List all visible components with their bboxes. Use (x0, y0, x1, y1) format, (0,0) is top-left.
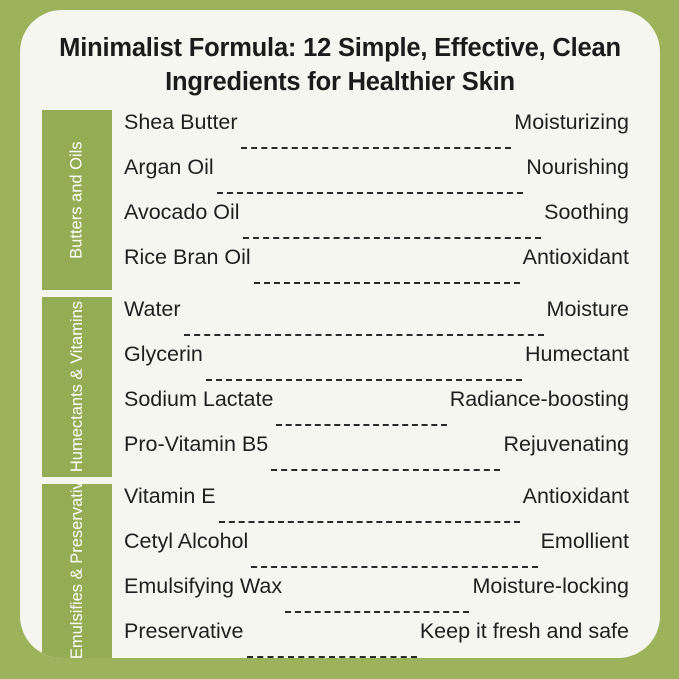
group-row-list: Water Moisture Glycerin Humectant Sodium… (112, 297, 660, 477)
ingredient-name: Emulsifying Wax (124, 574, 282, 599)
ingredient-groups: Butters and Oils Shea Butter Moisturizin… (20, 110, 660, 658)
ingredient-benefit: Radiance-boosting (450, 387, 629, 412)
ingredient-row: Vitamin E Antioxidant (124, 484, 629, 529)
ingredient-name: Argan Oil (124, 155, 214, 180)
group-row-list: Shea Butter Moisturizing Argan Oil Nouri… (112, 110, 660, 290)
ingredient-benefit: Moisture-locking (472, 574, 629, 599)
group-tab-label: Butters and Oils (66, 141, 88, 258)
ingredient-row: Water Moisture (124, 297, 629, 342)
leader-line (184, 333, 544, 336)
leader-line (254, 281, 520, 284)
ingredient-benefit: Keep it fresh and safe (420, 619, 629, 644)
ingredient-name: Rice Bran Oil (124, 245, 251, 270)
ingredient-group: Butters and Oils Shea Butter Moisturizin… (20, 110, 660, 290)
leader-line (206, 378, 522, 381)
ingredient-row: Cetyl Alcohol Emollient (124, 529, 629, 574)
group-tab-emulsifies-and-preservative: Emulsifies & Preservative (42, 484, 112, 658)
ingredient-benefit: Humectant (525, 342, 629, 367)
leader-line (247, 655, 417, 658)
group-tab-humectants-and-vitamins: Humectants & Vitamins (42, 297, 112, 477)
ingredient-benefit: Rejuvenating (503, 432, 629, 457)
leader-line (219, 520, 520, 523)
ingredient-group: Emulsifies & Preservative Vitamin E Anti… (20, 484, 660, 658)
ingredient-benefit: Emollient (541, 529, 629, 554)
ingredient-name: Avocado Oil (124, 200, 240, 225)
ingredient-row: Sodium Lactate Radiance-boosting (124, 387, 629, 432)
ingredient-row: Pro-Vitamin B5 Rejuvenating (124, 432, 629, 477)
ingredient-row: Argan Oil Nourishing (124, 155, 629, 200)
group-row-list: Vitamin E Antioxidant Cetyl Alcohol Emol… (112, 484, 660, 658)
ingredient-name: Cetyl Alcohol (124, 529, 248, 554)
ingredient-row: Glycerin Humectant (124, 342, 629, 387)
ingredient-benefit: Moisturizing (514, 110, 629, 135)
ingredient-name: Pro-Vitamin B5 (124, 432, 268, 457)
group-tab-label: Humectants & Vitamins (66, 302, 88, 472)
ingredient-name: Preservative (124, 619, 244, 644)
ingredient-row: Avocado Oil Soothing (124, 200, 629, 245)
ingredient-name: Sodium Lactate (124, 387, 273, 412)
leader-line (251, 565, 537, 568)
ingredient-benefit: Antioxidant (523, 245, 629, 270)
ingredient-row: Rice Bran Oil Antioxidant (124, 245, 629, 290)
leader-line (271, 468, 500, 471)
ingredient-row: Emulsifying Wax Moisture-locking (124, 574, 629, 619)
ingredient-benefit: Soothing (544, 200, 629, 225)
ingredient-name: Water (124, 297, 181, 322)
ingredient-benefit: Antioxidant (523, 484, 629, 509)
ingredient-name: Vitamin E (124, 484, 216, 509)
ingredient-group: Humectants & Vitamins Water Moisture Gly… (20, 297, 660, 477)
ingredient-benefit: Nourishing (526, 155, 629, 180)
leader-line (241, 146, 512, 149)
leader-line (243, 236, 542, 239)
ingredient-row: Preservative Keep it fresh and safe (124, 619, 629, 658)
infographic-card: Minimalist Formula: 12 Simple, Effective… (20, 10, 660, 658)
group-tab-label: Emulsifies & Preservative (66, 489, 88, 658)
leader-line (285, 610, 469, 613)
ingredient-row: Shea Butter Moisturizing (124, 110, 629, 155)
ingredient-name: Shea Butter (124, 110, 238, 135)
leader-line (276, 423, 446, 426)
ingredient-name: Glycerin (124, 342, 203, 367)
page-title: Minimalist Formula: 12 Simple, Effective… (20, 10, 660, 99)
leader-line (217, 191, 524, 194)
ingredient-benefit: Moisture (547, 297, 629, 322)
group-tab-butters-and-oils: Butters and Oils (42, 110, 112, 290)
